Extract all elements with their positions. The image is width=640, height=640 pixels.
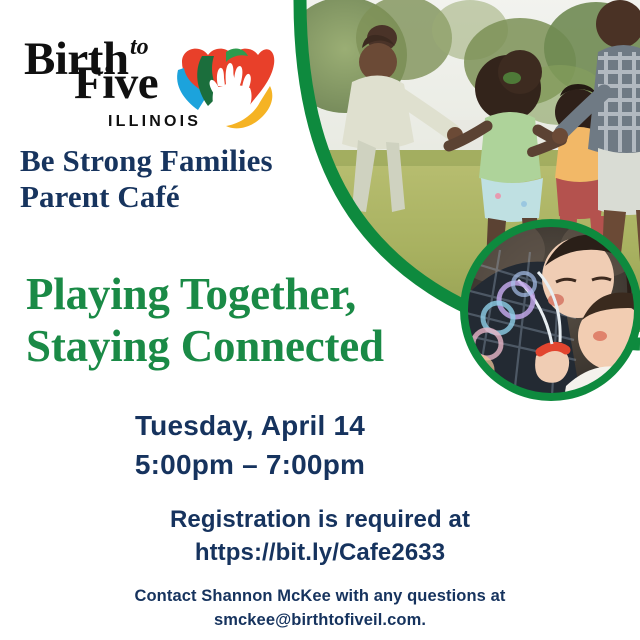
event-date: Tuesday, April 14 [0, 406, 500, 445]
registration-label: Registration is required at [0, 503, 640, 536]
registration-url[interactable]: https://bit.ly/Cafe2633 [0, 536, 640, 569]
event-series-subhead: Be Strong Families Parent Café [20, 143, 440, 216]
birth-to-five-illinois-logo: Birth to Five ILLINOIS [22, 26, 272, 130]
photo-figure-child-orange [532, 84, 628, 261]
contact-block: Contact Shannon McKee with any questions… [0, 585, 640, 633]
headline-line-2: Staying Connected [26, 320, 496, 372]
photo-figure-child-green [449, 50, 572, 265]
contact-label: Contact Shannon McKee with any questions… [0, 585, 640, 609]
contact-email[interactable]: smckee@birthtofiveil.com. [0, 609, 640, 633]
photo-figure-man [552, 0, 640, 262]
bubble-photo-child [562, 292, 640, 410]
two-hearts-and-hand-icon [174, 42, 278, 134]
subhead-line-1: Be Strong Families [20, 143, 440, 179]
bubble-photo-adult [542, 235, 631, 332]
event-headline: Playing Together, Staying Connected [26, 268, 496, 372]
logo-word-to: to [130, 35, 149, 59]
event-time: 5:00pm – 7:00pm [0, 445, 500, 484]
parent-cafe-flyer: Birth to Five ILLINOIS [0, 0, 640, 640]
event-datetime: Tuesday, April 14 5:00pm – 7:00pm [0, 406, 500, 484]
logo-word-five: Five [74, 60, 158, 107]
registration-block: Registration is required at https://bit.… [0, 503, 640, 569]
subhead-line-2: Parent Café [20, 179, 440, 215]
headline-line-1: Playing Together, [26, 268, 496, 320]
